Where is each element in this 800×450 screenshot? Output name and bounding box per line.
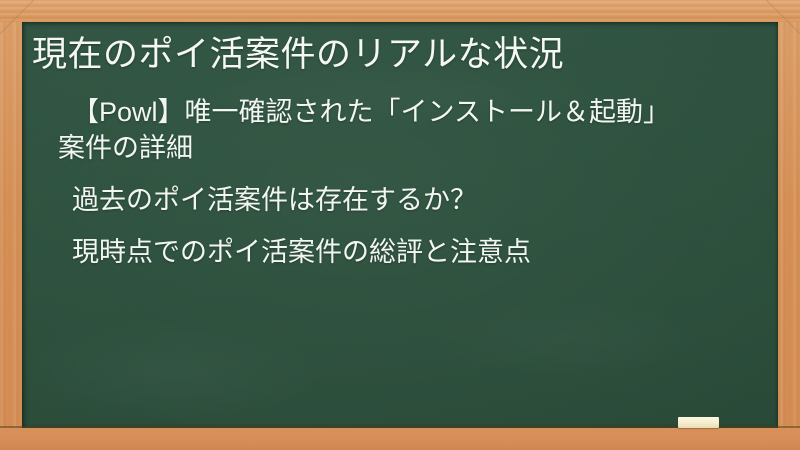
slide-title: 現在のポイ活案件のリアルな状況 — [32, 32, 762, 78]
list-item-line-primary: 現時点でのポイ活案件の総評と注意点 — [72, 237, 531, 267]
list-item: 【Powl】唯一確認された「インストール＆起動」 案件の詳細 — [58, 94, 758, 166]
list-item-line-primary: 過去のポイ活案件は存在するか？ — [72, 185, 477, 215]
frame-top-rail — [0, 0, 800, 22]
blackboard-frame: 現在のポイ活案件のリアルな状況 【Powl】唯一確認された「インストール＆起動」… — [0, 0, 800, 450]
chalk-stick-icon — [678, 417, 719, 428]
topic-list: 【Powl】唯一確認された「インストール＆起動」 案件の詳細 過去のポイ活案件は… — [58, 94, 758, 286]
list-item-line-primary: 【Powl】唯一確認された「インストール＆起動」 — [58, 94, 758, 130]
frame-bottom-ledge — [0, 428, 800, 450]
slide-content: 現在のポイ活案件のリアルな状況 【Powl】唯一確認された「インストール＆起動」… — [22, 22, 778, 428]
chalkboard-surface: 現在のポイ活案件のリアルな状況 【Powl】唯一確認された「インストール＆起動」… — [22, 22, 778, 428]
list-item-line-continuation: 案件の詳細 — [58, 130, 758, 166]
list-item: 過去のポイ活案件は存在するか？ — [58, 182, 758, 218]
list-item: 現時点でのポイ活案件の総評と注意点 — [58, 234, 758, 270]
